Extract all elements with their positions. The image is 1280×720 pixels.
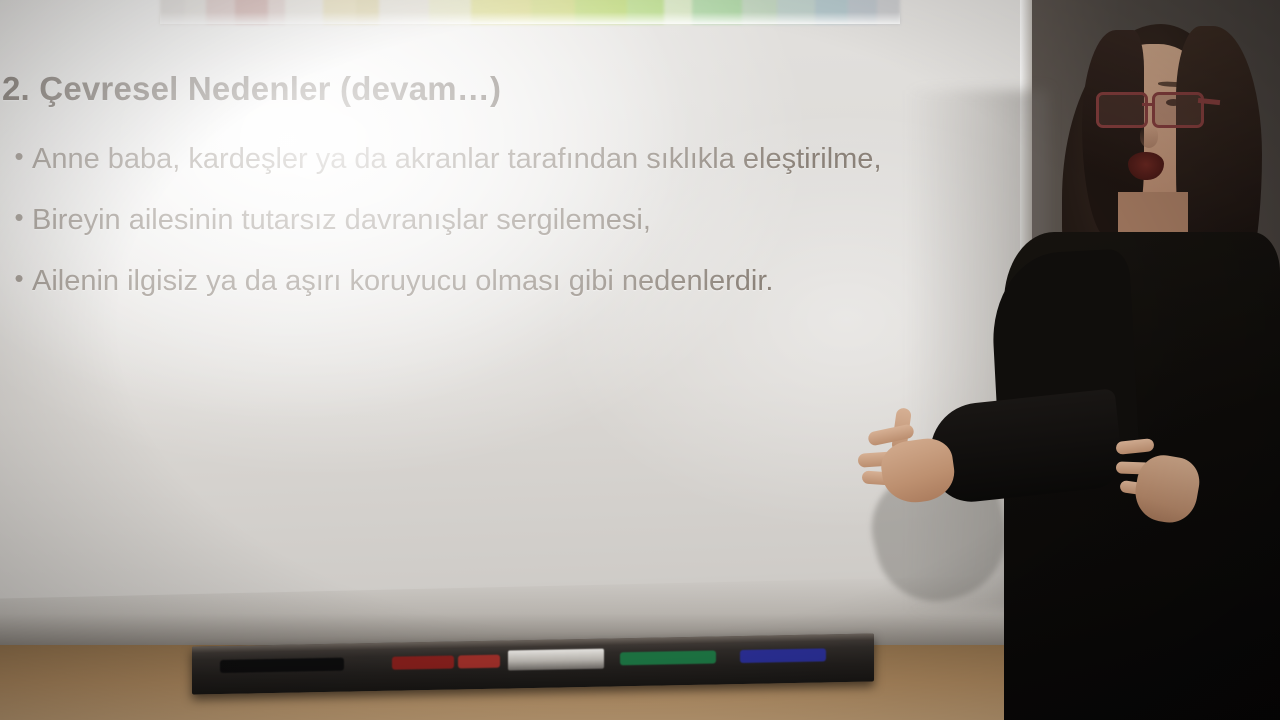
eyeglass-lens-right	[1152, 92, 1204, 128]
eyeglass-lens-left	[1096, 92, 1148, 128]
eyeglasses	[1094, 92, 1216, 126]
presenter-hand-right	[1116, 430, 1212, 538]
finger-right-index	[1115, 438, 1154, 455]
video-frame: 2. Çevresel Nedenler (devam…) •Anne baba…	[0, 0, 1280, 720]
presenter	[0, 0, 1280, 720]
eyeglass-bridge	[1142, 103, 1154, 106]
presenter-nose	[1140, 126, 1158, 148]
presenter-hand-left-open	[856, 408, 964, 518]
palm-left	[878, 435, 958, 506]
